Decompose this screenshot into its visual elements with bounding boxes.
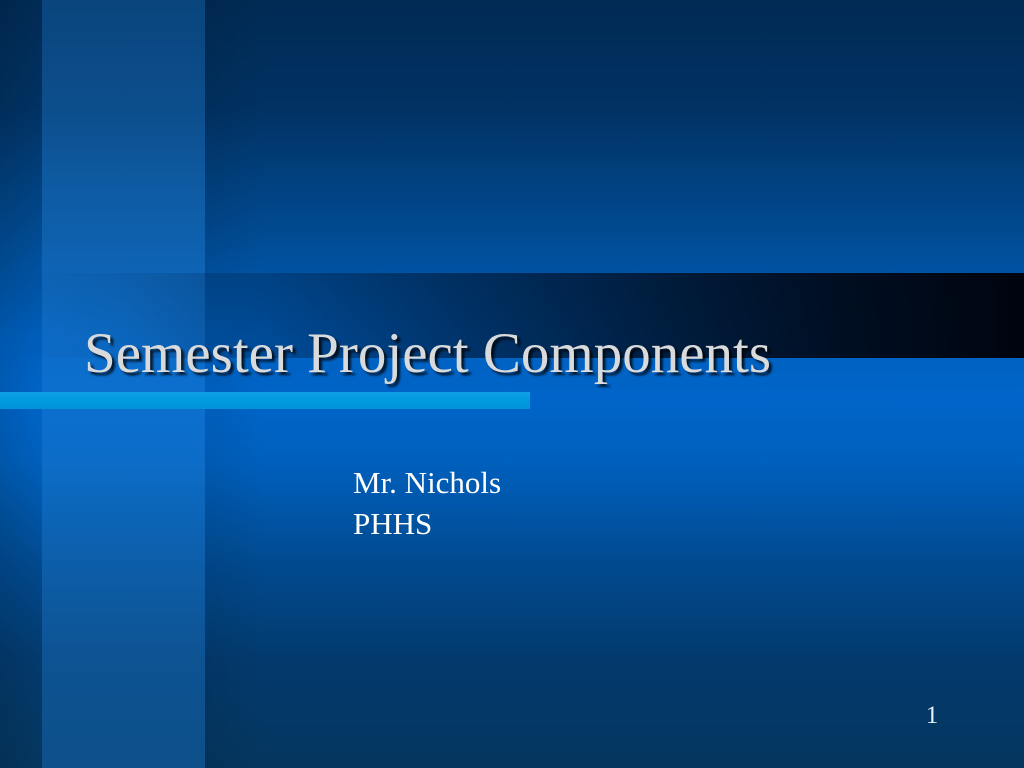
subtitle-line-presenter: Mr. Nichols — [353, 462, 913, 503]
slide-number: 1 — [900, 702, 964, 730]
subtitle-block: Mr. Nichols PHHS — [353, 462, 913, 544]
presentation-slide: Semester Project Components Mr. Nichols … — [0, 0, 1024, 768]
accent-bar — [0, 392, 530, 409]
left-edge-strip — [0, 0, 42, 768]
page-title: Semester Project Components — [84, 323, 984, 385]
subtitle-line-organization: PHHS — [353, 503, 913, 544]
